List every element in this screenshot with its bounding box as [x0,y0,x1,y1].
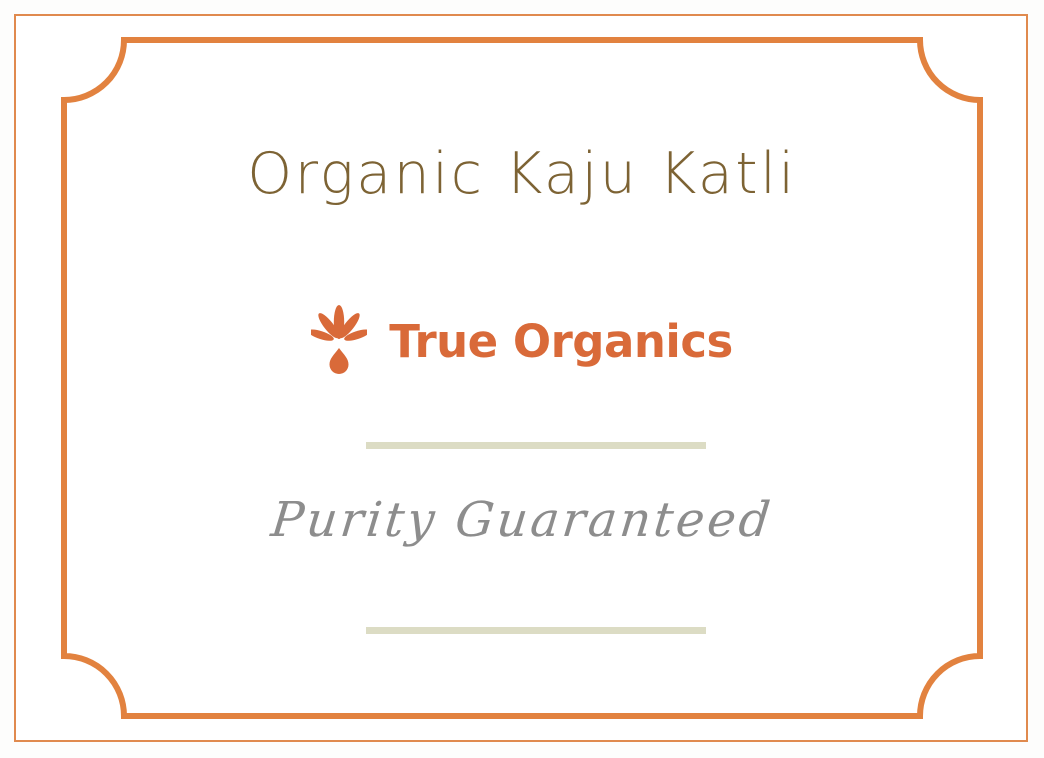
page-title: Organic Kaju Katli [0,142,1044,208]
leaf-droplet-icon [311,305,367,377]
brand-lockup: True Organics [0,305,1044,377]
product-label-card: Organic Kaju Katli True Organics [0,0,1044,758]
divider-top [366,442,706,449]
label-content: Organic Kaju Katli True Organics [0,0,1044,758]
brand-name: True Organics [389,319,733,364]
divider-bottom [366,627,706,634]
tagline: Purity Guaranteed [0,492,1044,550]
